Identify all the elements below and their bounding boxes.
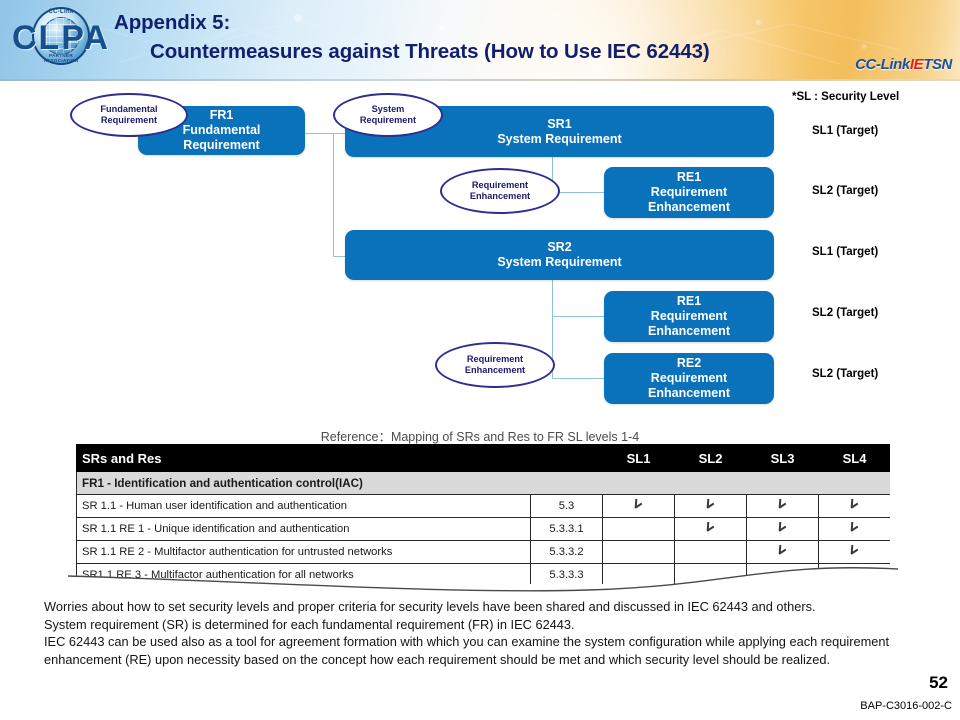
- clpa-logo: CC-Link PARTNER ASSOCIATION CLPA: [8, 4, 114, 72]
- check-icon: [850, 568, 859, 579]
- logo-letters: CLPA: [8, 18, 114, 58]
- body-paragraph-1: Worries about how to set security levels…: [44, 598, 924, 616]
- table-cell-name: SR 1.1 - Human user identification and a…: [77, 495, 531, 518]
- check-icon: [778, 522, 787, 533]
- connector-sr2-to-re1: [552, 316, 604, 317]
- table-header-sl4: SL4: [819, 445, 891, 472]
- table-cell-sl1: [603, 541, 675, 564]
- table-header-row: SRs and Res SL1 SL2 SL3 SL4: [77, 445, 891, 472]
- table-cell-sl4: [819, 541, 891, 564]
- table-row[interactable]: SR1.1 RE 3 - Multifactor authentication …: [77, 564, 891, 585]
- box-sr1-re1[interactable]: RE1 Requirement Enhancement: [604, 167, 774, 218]
- box-sr2-re1[interactable]: RE1 Requirement Enhancement: [604, 291, 774, 342]
- table-header-sl1: SL1: [603, 445, 675, 472]
- box-fr1-title: FR1: [210, 108, 234, 123]
- check-icon: [634, 499, 643, 510]
- callout-system-requirement: System Requirement: [333, 93, 443, 137]
- callout-requirement-enhancement-2-line1: Requirement: [467, 354, 523, 365]
- box-sr2-re2-title: RE2: [677, 356, 701, 371]
- connector-fr1-spine: [333, 133, 334, 257]
- body-text: Worries about how to set security levels…: [44, 598, 924, 668]
- brand-ie: IE: [910, 56, 923, 73]
- table-group-row: FR1 - Identification and authentication …: [77, 472, 891, 495]
- page-title: Appendix 5: Countermeasures against Thre…: [114, 8, 944, 66]
- check-icon: [778, 499, 787, 510]
- table-header-clause: [531, 445, 603, 472]
- table-cell-sl2: [675, 564, 747, 585]
- connector-fr1-out: [304, 133, 334, 134]
- requirements-hierarchy-diagram: *SL : Security Level FR1 Fundamental Req…: [0, 80, 960, 425]
- callout-system-requirement-line1: System: [372, 104, 405, 115]
- table-cell-name: SR1.1 RE 3 - Multifactor authentication …: [77, 564, 531, 585]
- box-sr1-re1-title: RE1: [677, 170, 701, 185]
- table-cell-clause: 5.3.3.3: [531, 564, 603, 585]
- table-header-sl2: SL2: [675, 445, 747, 472]
- page-title-line2: Countermeasures against Threats (How to …: [114, 37, 944, 66]
- box-sr2-re2-line3: Enhancement: [648, 386, 730, 401]
- page-title-line1: Appendix 5:: [114, 8, 944, 37]
- check-icon: [778, 545, 787, 556]
- slide-header: CC-Link PARTNER ASSOCIATION CLPA Appendi…: [0, 0, 960, 80]
- table-row[interactable]: SR 1.1 - Human user identification and a…: [77, 495, 891, 518]
- table-header-sl3: SL3: [747, 445, 819, 472]
- table-cell-name: SR 1.1 RE 1 - Unique identification and …: [77, 518, 531, 541]
- check-icon: [850, 499, 859, 510]
- sl-label-1: SL1 (Target): [812, 125, 878, 137]
- callout-fundamental-requirement-line2: Requirement: [101, 115, 157, 126]
- logo-ring-top-text: CC-Link: [32, 9, 90, 15]
- table-cell-sl1: [603, 495, 675, 518]
- box-sr1-title: SR1: [547, 117, 571, 132]
- callout-requirement-enhancement-2-line2: Enhancement: [465, 365, 525, 376]
- table-cell-clause: 5.3.3.2: [531, 541, 603, 564]
- check-icon: [706, 499, 715, 510]
- mapping-table-container: SRs and Res SL1 SL2 SL3 SL4 FR1 - Identi…: [76, 444, 890, 584]
- table-cell-sl3: [747, 541, 819, 564]
- box-fr1-line2: Fundamental: [183, 123, 261, 138]
- security-level-note: *SL : Security Level: [792, 91, 899, 103]
- brand-tsn: TSN: [923, 56, 952, 73]
- reference-caption: Reference：Mapping of SRs and Res to FR S…: [0, 426, 960, 445]
- table-cell-name: SR 1.1 RE 2 - Multifactor authentication…: [77, 541, 531, 564]
- mapping-table: SRs and Res SL1 SL2 SL3 SL4 FR1 - Identi…: [76, 444, 890, 584]
- cc-link-ie-tsn-logo: CC-LinkIETSN: [855, 56, 952, 73]
- table-cell-sl2: [675, 495, 747, 518]
- callout-system-requirement-line2: Requirement: [360, 115, 416, 126]
- table-cell-sl2: [675, 518, 747, 541]
- table-cell-sl3: [747, 564, 819, 585]
- table-header-name: SRs and Res: [77, 445, 531, 472]
- table-row[interactable]: SR 1.1 RE 2 - Multifactor authentication…: [77, 541, 891, 564]
- table-cell-sl3: [747, 495, 819, 518]
- callout-requirement-enhancement-2: Requirement Enhancement: [435, 342, 555, 388]
- body-paragraph-2: System requirement (SR) is determined fo…: [44, 616, 924, 634]
- check-icon: [850, 522, 859, 533]
- table-cell-sl4: [819, 495, 891, 518]
- box-sr2-re1-title: RE1: [677, 294, 701, 309]
- sl-label-2: SL2 (Target): [812, 185, 878, 197]
- table-cell-clause: 5.3.3.1: [531, 518, 603, 541]
- box-sr2-re1-line2: Requirement: [651, 309, 727, 324]
- box-sr1-line2: System Requirement: [497, 132, 621, 147]
- check-icon: [706, 522, 715, 533]
- brand-cc-link: CC-Link: [855, 56, 910, 73]
- box-sr2-re1-line3: Enhancement: [648, 324, 730, 339]
- callout-requirement-enhancement-1-line1: Requirement: [472, 180, 528, 191]
- table-cell-sl1: [603, 564, 675, 585]
- table-cell-clause: 5.3: [531, 495, 603, 518]
- box-sr2-title: SR2: [547, 240, 571, 255]
- table-cell-sl1: [603, 518, 675, 541]
- callout-requirement-enhancement-1: Requirement Enhancement: [440, 168, 560, 214]
- table-cell-sl4: [819, 564, 891, 585]
- box-sr2-re2-line2: Requirement: [651, 371, 727, 386]
- callout-fundamental-requirement: Fundamental Requirement: [70, 93, 188, 137]
- callout-requirement-enhancement-1-line2: Enhancement: [470, 191, 530, 202]
- body-paragraph-3: IEC 62443 can be used also as a tool for…: [44, 633, 924, 668]
- document-code: BAP-C3016-002-C: [860, 700, 952, 712]
- callout-fundamental-requirement-line1: Fundamental: [100, 104, 157, 115]
- slide-canvas: CC-Link PARTNER ASSOCIATION CLPA Appendi…: [0, 0, 960, 720]
- table-cell-sl2: [675, 541, 747, 564]
- sl-label-3: SL1 (Target): [812, 246, 878, 258]
- sl-label-4: SL2 (Target): [812, 307, 878, 319]
- connector-sr2-to-re2: [552, 378, 604, 379]
- box-sr1-re1-line3: Enhancement: [648, 200, 730, 215]
- table-cell-sl3: [747, 518, 819, 541]
- table-row[interactable]: SR 1.1 RE 1 - Unique identification and …: [77, 518, 891, 541]
- page-number: 52: [929, 673, 948, 693]
- box-sr2[interactable]: SR2 System Requirement: [345, 230, 774, 280]
- sl-label-5: SL2 (Target): [812, 368, 878, 380]
- box-sr2-line2: System Requirement: [497, 255, 621, 270]
- box-sr2-re2[interactable]: RE2 Requirement Enhancement: [604, 353, 774, 404]
- box-fr1-line3: Requirement: [183, 138, 259, 153]
- table-group-label: FR1 - Identification and authentication …: [77, 472, 891, 495]
- table-cell-sl4: [819, 518, 891, 541]
- check-icon: [850, 545, 859, 556]
- box-sr1-re1-line2: Requirement: [651, 185, 727, 200]
